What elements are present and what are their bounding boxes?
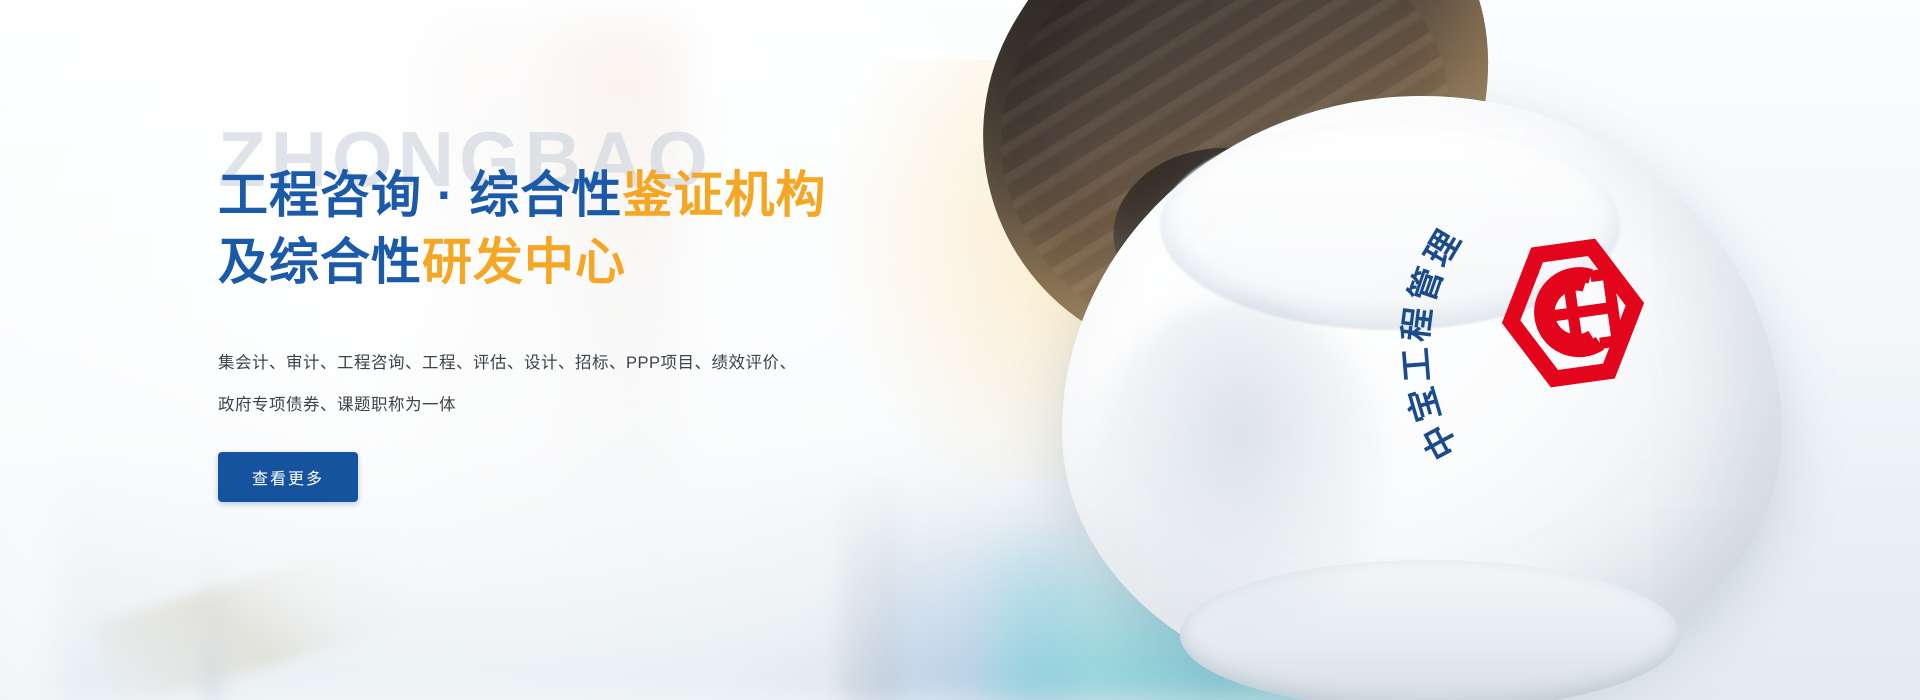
hero-banner: 中宝工程管理 ZHONGBAO 工程咨询 · 综合性鉴证机构 及综合性研发中心 [0,0,1920,700]
headline-line-1-primary: 工程咨询 · 综合性 [218,167,622,223]
hero-content: ZHONGBAO 工程咨询 · 综合性鉴证机构 及综合性研发中心 集会计、审计、… [218,120,938,502]
headline-line-1: 工程咨询 · 综合性鉴证机构 [218,162,938,229]
headline-line-2: 及综合性研发中心 [218,229,938,296]
hero-description: 集会计、审计、工程咨询、工程、评估、设计、招标、PPP项目、绩效评价、 政府专项… [218,342,938,426]
view-more-button[interactable]: 查看更多 [218,452,358,502]
description-line-2: 政府专项债券、课题职称为一体 [218,384,938,426]
headline-line-2-primary: 及综合性 [218,234,422,290]
safety-helmet-shadow [1090,300,1390,630]
hero-headline: 工程咨询 · 综合性鉴证机构 及综合性研发中心 [218,162,938,296]
headline-line-2-accent: 研发中心 [422,234,626,290]
zhongbao-hexagon-logo-icon [1488,228,1657,397]
headline-line-1-accent: 鉴证机构 [622,167,826,223]
description-line-1: 集会计、审计、工程咨询、工程、评估、设计、招标、PPP项目、绩效评价、 [218,342,938,384]
